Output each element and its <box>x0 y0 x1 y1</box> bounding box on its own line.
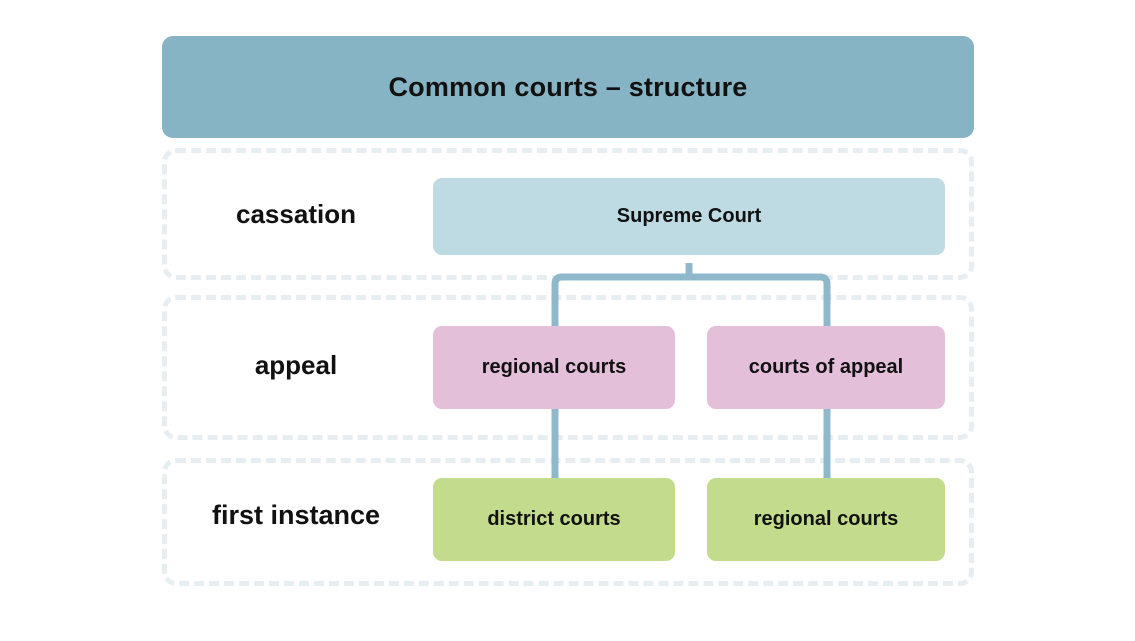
node-label: courts of appeal <box>749 356 903 379</box>
tier-label-appeal: appeal <box>176 350 416 381</box>
node-regional-courts-appeal[interactable]: regional courts <box>433 326 675 409</box>
diagram-title-bar: Common courts – structure <box>162 36 974 138</box>
node-label: Supreme Court <box>617 205 761 228</box>
node-courts-of-appeal[interactable]: courts of appeal <box>707 326 945 409</box>
node-regional-courts-first-instance[interactable]: regional courts <box>707 478 945 561</box>
node-supreme-court[interactable]: Supreme Court <box>433 178 945 255</box>
node-label: district courts <box>487 508 620 531</box>
node-label: regional courts <box>754 508 898 531</box>
tier-label-cassation: cassation <box>176 199 416 230</box>
page-title: Common courts – structure <box>388 72 747 103</box>
node-district-courts[interactable]: district courts <box>433 478 675 561</box>
tier-label-first-instance: first instance <box>176 500 416 531</box>
node-label: regional courts <box>482 356 626 379</box>
diagram-canvas: Common courts – structure cassation appe… <box>0 0 1135 641</box>
